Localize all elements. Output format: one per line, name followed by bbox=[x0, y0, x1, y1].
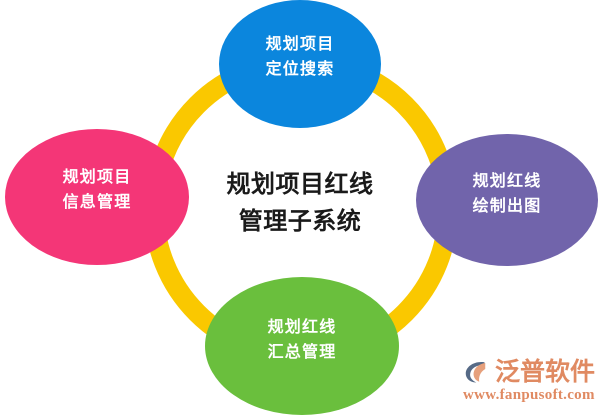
node-ellipse-right[interactable] bbox=[416, 134, 598, 266]
watermark-brand-text: 泛普软件 bbox=[495, 357, 595, 387]
watermark-brand-row: 泛普软件 bbox=[462, 355, 604, 389]
diagram-center-title: 规划项目红线 管理子系统 bbox=[183, 167, 417, 241]
center-title-line2: 管理子系统 bbox=[183, 204, 417, 241]
diagram-canvas: 规划项目 定位搜索 规划项目 信息管理 规划红线 绘制出图 规划红线 汇总管理 … bbox=[0, 0, 606, 417]
center-title-line1: 规划项目红线 bbox=[183, 167, 417, 204]
watermark-url-text: www.fanpusoft.com bbox=[463, 387, 604, 404]
node-ellipse-top[interactable] bbox=[219, 0, 381, 128]
node-ellipse-bottom[interactable] bbox=[205, 277, 399, 415]
node-ellipse-left[interactable] bbox=[5, 129, 189, 265]
fanpu-logo-icon bbox=[462, 357, 492, 387]
watermark: 泛普软件 www.fanpusoft.com bbox=[462, 355, 604, 411]
